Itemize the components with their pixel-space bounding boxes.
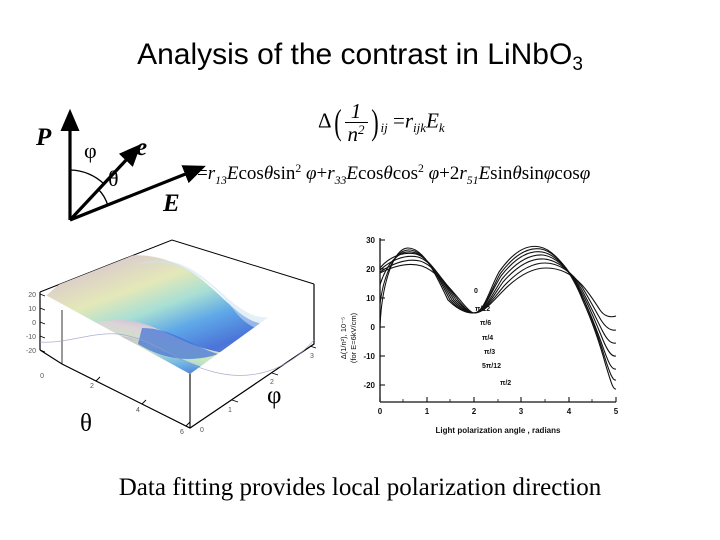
equals-sign-2: = [197,163,208,184]
phi-t2: φ [429,163,440,184]
right-paren: ) [371,106,378,138]
phi-tick-1: 1 [228,407,232,414]
x-tick-2: 2 [472,407,477,416]
cos-t2: cos [358,163,383,184]
y-tick-20: 20 [366,265,375,274]
y-axis-title-line2: (for E=6kV/cm) [349,312,358,363]
surface-mesh [40,255,314,384]
surface-yaxis-label-phi: φ [267,382,281,410]
sin-t3: sin [490,163,512,184]
line-plot-x-ticks [380,397,616,402]
surface-xaxis-label-theta: θ [80,410,92,438]
z-tick-20: 20 [28,292,36,299]
fraction-one-over-n-squared: 1n2 [345,100,368,145]
e-field-subscript: k [439,120,445,135]
vector-e-label: e [136,134,147,162]
e-field-symbol-t1: E [227,163,239,184]
series-label-pi4: π/4 [482,335,493,342]
n-exponent: 2 [358,122,365,137]
cos2-t2: cos [393,163,418,184]
curve-theta-pi6 [380,256,616,343]
series-label-pi3: π/3 [484,349,495,356]
plus-sign-1: + [317,163,328,184]
theta-axis-ticks [96,377,190,426]
plus-sign-2: + [439,163,450,184]
cos-t1: cos [239,163,264,184]
r51-subscript: 51 [467,174,479,187]
cos-exponent-t2: 2 [418,162,424,175]
line-plot-x-axis-title: Light polarization angle , radians [436,426,561,435]
z-tick-neg10: -10 [26,334,36,341]
theta-tick-4: 4 [136,407,140,414]
left-paren: ( [334,106,341,138]
theta-tick-6: 6 [180,429,184,436]
e-field-symbol-t3: E [479,163,491,184]
e-field-symbol-1: E [426,108,439,132]
angle-theta-label: θ [108,166,119,192]
r13-subscript: 13 [215,174,227,187]
series-label-0: 0 [474,288,478,295]
y-axis-title-line1: Δ(1/n²), 10⁻⁵ [339,317,348,360]
paren-subscript-ij: ij [381,120,388,135]
theta-t1: θ [264,163,273,184]
phi-t1: φ [306,163,317,184]
sin-t1: sin [273,163,295,184]
series-label-pi2: π/2 [500,380,511,387]
equation-expanded-contrast: =r13Ecosθsin2 φ+r33Ecosθcos2 φ+2r51Esinθ… [197,163,590,185]
theta-t2: θ [383,163,392,184]
y-tick-neg20: -20 [363,381,375,390]
series-label-5pi12: 5π/12 [482,363,501,370]
equation-index-ellipsoid: Δ(1n2)ij =rijkEk [318,100,445,145]
y-tick-neg10: -10 [363,352,375,361]
slide-canvas: Analysis of the contrast in LiNbO3 P e E… [0,0,720,540]
title-text: Analysis of the contrast in LiNbO [137,38,572,71]
r13-symbol: r [208,163,215,184]
x-tick-1: 1 [425,407,430,416]
line-plot-y-axis-title: Δ(1/n²), 10⁻⁵ (for E=6kV/cm) [339,312,358,363]
surface-plot-3d: 20 10 0 -10 -20 0 2 4 6 0 1 2 [22,232,332,448]
theta-t3: θ [512,163,521,184]
page-title: Analysis of the contrast in LiNbO3 [0,38,720,72]
phi-tick-origin: 0 [200,427,204,434]
theta-tick-2: 2 [90,383,94,390]
r-tensor-subscript: ijk [413,120,426,135]
e-field-symbol-t2: E [346,163,358,184]
theta-tick-origin: 0 [40,373,44,380]
sin-exponent-t1: 2 [295,162,301,175]
angle-arc-phi [70,170,104,184]
line-plot-2d: 30 20 10 0 -10 -20 0 1 2 [332,230,642,440]
slide-caption: Data fitting provides local polarization… [0,474,720,502]
x-tick-0: 0 [378,407,383,416]
line-plot-svg: 30 20 10 0 -10 -20 0 1 2 [332,230,642,440]
delta-symbol: Δ [318,108,332,132]
curve-theta-pi4 [380,253,616,356]
fraction-numerator: 1 [345,100,368,123]
series-label-pi12: π/12 [475,306,490,313]
x-tick-4: 4 [567,407,572,416]
r-tensor-symbol: r [405,108,413,132]
r51-symbol: r [459,163,466,184]
title-subscript: 3 [572,54,583,75]
r33-subscript: 33 [335,174,347,187]
angle-arc-theta [98,189,108,206]
z-tick-10: 10 [28,306,36,313]
z-tick-neg20: -20 [26,348,36,355]
phi-t3a: φ [544,163,555,184]
phi-t3b: φ [580,163,591,184]
fraction-denominator: n2 [345,123,368,145]
x-tick-5: 5 [614,407,619,416]
z-axis-ticks [40,294,45,352]
coefficient-two: 2 [450,163,460,184]
z-tick-0: 0 [32,320,36,327]
angle-phi-label: φ [84,138,97,164]
series-label-pi6: π/6 [480,320,491,327]
phi-tick-3: 3 [310,353,314,360]
vector-p-label: P [36,124,51,152]
equals-sign-1: = [393,108,405,132]
cos-t3: cos [554,163,579,184]
surface-plot-svg: 20 10 0 -10 -20 0 2 4 6 0 1 2 [22,232,332,448]
x-tick-3: 3 [519,407,524,416]
vector-efield-label: E [163,190,180,218]
sin2-t3: sin [522,163,544,184]
r33-symbol: r [327,163,334,184]
vector-e-arrow [70,158,128,220]
y-tick-10: 10 [366,294,375,303]
y-tick-0: 0 [371,323,376,332]
curve-theta-pi3 [380,252,616,369]
y-tick-30: 30 [366,236,375,245]
curve-theta-5pi12 [380,249,616,380]
